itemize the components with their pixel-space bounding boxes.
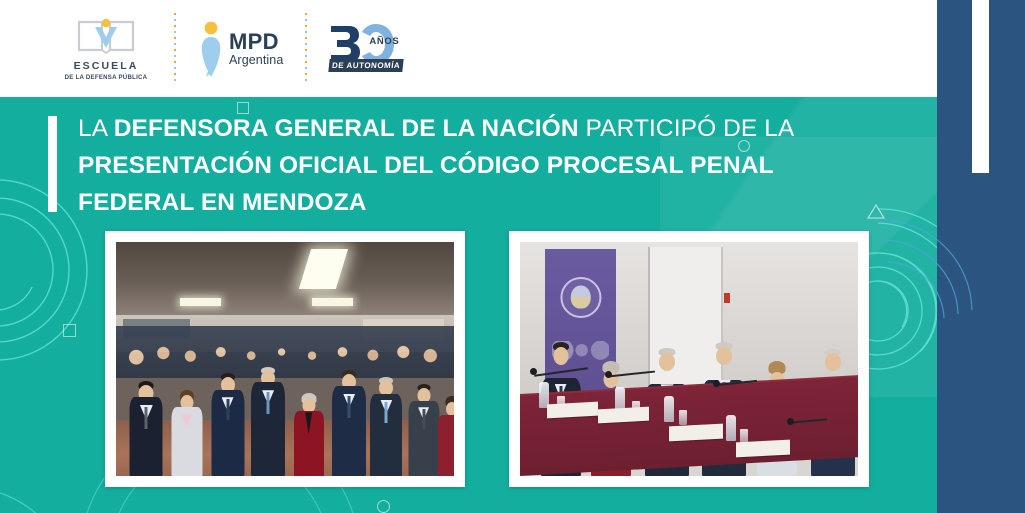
photo1-ceiling-light-left bbox=[180, 298, 221, 305]
title-part-1: LA bbox=[78, 115, 114, 142]
person-figure-icon bbox=[198, 20, 224, 78]
photo2-water-bottle bbox=[664, 396, 674, 422]
title-part-2-bold: DEFENSORA GENERAL DE LA NACIÓN bbox=[114, 115, 579, 142]
logo-thirty-years-subtitle: DE AUTONOMÍA bbox=[329, 59, 405, 72]
photo-right-frame[interactable] bbox=[509, 231, 869, 487]
photo2-nameplate bbox=[598, 407, 649, 424]
photo1-person bbox=[126, 377, 167, 476]
photo1-person bbox=[366, 374, 407, 476]
logo-escuela-name: ESCUELA bbox=[74, 60, 139, 72]
title-accent-bar bbox=[48, 116, 57, 212]
photo1-person bbox=[248, 365, 289, 476]
slide-root: ESCUELA DE LA DEFENSA PÚBLICA MPD Argent… bbox=[0, 0, 1025, 513]
photo2-water-bottle bbox=[726, 415, 736, 441]
photo2-microphone-head bbox=[713, 380, 720, 387]
logo-mpd-subtitle: Argentina bbox=[229, 54, 283, 67]
photo1-person bbox=[167, 387, 208, 476]
title-part-3: PARTICIPÓ DE LA bbox=[579, 115, 793, 142]
photo2-glass bbox=[679, 410, 687, 425]
photo1-person bbox=[288, 390, 329, 476]
logo-escuela-de-la-defensa-publica[interactable]: ESCUELA DE LA DEFENSA PÚBLICA bbox=[60, 16, 152, 81]
photo-left-image bbox=[116, 242, 454, 476]
logo-mpd-text: MPD Argentina bbox=[229, 31, 283, 67]
logo-escuela-subtitle: DE LA DEFENSA PÚBLICA bbox=[65, 74, 148, 81]
photo1-person bbox=[434, 393, 454, 476]
photo2-microphone-head bbox=[787, 418, 794, 425]
logo-row: ESCUELA DE LA DEFENSA PÚBLICA MPD Argent… bbox=[60, 13, 407, 85]
photo-left-frame[interactable] bbox=[105, 231, 465, 487]
page-title: LA DEFENSORA GENERAL DE LA NACIÓN PARTIC… bbox=[78, 110, 818, 221]
photo1-people-row bbox=[116, 317, 454, 476]
photo-right-image bbox=[520, 242, 858, 476]
logo-mpd-name: MPD bbox=[229, 31, 283, 53]
open-book-person-icon bbox=[75, 16, 137, 56]
photo1-person bbox=[207, 371, 248, 476]
logo-divider-2 bbox=[305, 13, 307, 85]
logo-divider-1 bbox=[174, 13, 176, 85]
photo1-person bbox=[329, 368, 370, 476]
navy-white-accent-bar bbox=[972, 0, 989, 173]
logo-thirty-years-autonomy[interactable]: AÑOS DE AUTONOMÍA bbox=[329, 21, 407, 77]
logo-thirty-years-label: AÑOS bbox=[369, 36, 399, 47]
photo2-nameplate bbox=[669, 423, 723, 441]
photo2-microphone-head bbox=[605, 371, 612, 378]
header-logo-bar: ESCUELA DE LA DEFENSA PÚBLICA MPD Argent… bbox=[0, 0, 937, 97]
photo1-ceiling bbox=[116, 242, 454, 315]
logo-mpd-argentina[interactable]: MPD Argentina bbox=[198, 19, 283, 79]
photo2-nameplate bbox=[736, 439, 790, 457]
photo1-ceiling-light-right bbox=[312, 298, 353, 305]
title-part-4-bold: PRESENTACIÓN OFICIAL DEL CÓDIGO PROCESAL… bbox=[78, 152, 773, 216]
